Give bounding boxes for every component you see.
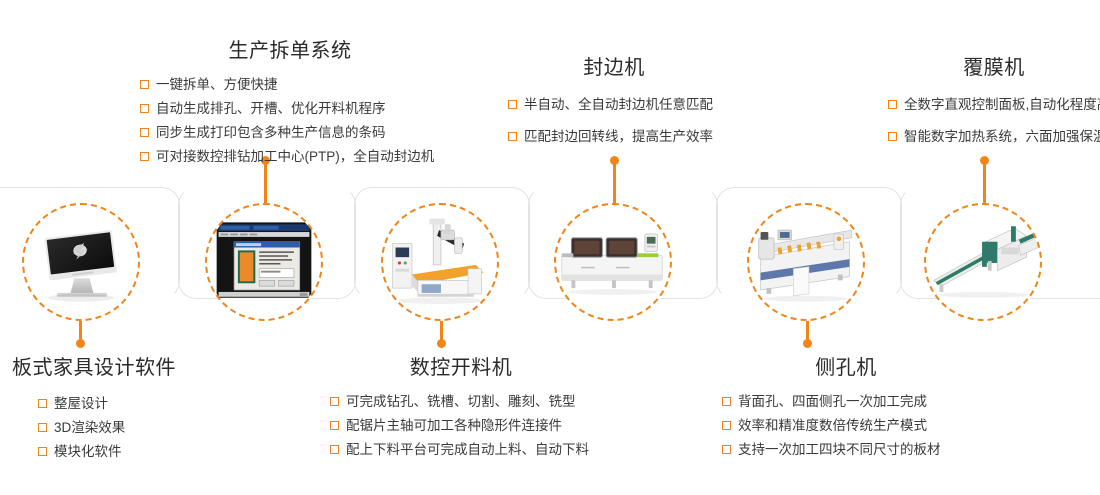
- section-title: 侧孔机: [722, 355, 970, 381]
- bullet-label: 整屋设计: [54, 392, 108, 416]
- bullet-square-icon: [722, 421, 731, 430]
- bullet-square-icon: [38, 447, 47, 456]
- connector-dot-6: [980, 156, 989, 165]
- workflow-infographic: 生产拆单系统 一键拆单、方便快捷 自动生成排孔、开槽、优化开料机程序 同步生成打…: [0, 0, 1100, 495]
- bullet-label: 半自动、全自动封边机任意匹配: [524, 93, 713, 117]
- section-panel-furniture-design-software: 板式家具设计软件 整屋设计 3D渲染效果 模块化软件: [12, 355, 242, 464]
- bullet-item: 一键拆单、方便快捷: [140, 73, 440, 97]
- section-bullet-list: 整屋设计 3D渲染效果 模块化软件: [12, 392, 242, 464]
- bullet-square-icon: [140, 128, 149, 137]
- bullet-item: 半自动、全自动封边机任意匹配: [508, 93, 720, 117]
- node-edge-bander[interactable]: [554, 203, 672, 321]
- section-bullet-list: 可完成钻孔、铣槽、切割、雕刻、铣型 配锯片主轴可加工各种隐形件连接件 配上下料平…: [330, 390, 592, 462]
- bullet-label: 一键拆单、方便快捷: [156, 73, 278, 97]
- section-title: 生产拆单系统: [140, 38, 440, 64]
- bullet-label: 匹配封边回转线，提高生产效率: [524, 125, 713, 149]
- bullet-label: 全数字直观控制面板,自动化程度高: [904, 93, 1100, 117]
- cnc-router-machine-icon: [383, 205, 497, 319]
- section-title: 数控开料机: [330, 355, 592, 381]
- bullet-label: 同步生成打印包含多种生产信息的条码: [156, 121, 386, 145]
- bullet-label: 3D渲染效果: [54, 416, 125, 440]
- connector-dot-4: [610, 156, 619, 165]
- node-laminator[interactable]: [924, 203, 1042, 321]
- node-cnc-router[interactable]: [381, 203, 499, 321]
- bullet-item: 配上下料平台可完成自动上料、自动下料: [330, 438, 592, 462]
- section-title: 板式家具设计软件: [12, 355, 242, 381]
- bullet-item: 3D渲染效果: [38, 416, 242, 440]
- bullet-label: 背面孔、四面侧孔一次加工完成: [738, 390, 927, 414]
- side-hole-drill-machine-icon: [749, 205, 863, 319]
- bullet-square-icon: [38, 399, 47, 408]
- node-side-driller[interactable]: [747, 203, 865, 321]
- laminating-machine-icon: [926, 205, 1040, 319]
- bullet-square-icon: [38, 423, 47, 432]
- node-split-order[interactable]: [205, 203, 323, 321]
- bullet-item: 自动生成排孔、开槽、优化开料机程序: [140, 97, 440, 121]
- bullet-square-icon: [888, 132, 897, 141]
- section-title: 封边机: [508, 55, 720, 81]
- bullet-item: 可对接数控排钻加工中心(PTP)，全自动封边机: [140, 145, 440, 169]
- bullet-label: 自动生成排孔、开槽、优化开料机程序: [156, 97, 386, 121]
- bullet-item: 可完成钻孔、铣槽、切割、雕刻、铣型: [330, 390, 592, 414]
- bullet-label: 配锯片主轴可加工各种隐形件连接件: [346, 414, 562, 438]
- bullet-item: 效率和精准度数倍传统生产模式: [722, 414, 970, 438]
- bullet-square-icon: [508, 132, 517, 141]
- bullet-label: 配上下料平台可完成自动上料、自动下料: [346, 438, 589, 462]
- section-bullet-list: 一键拆单、方便快捷 自动生成排孔、开槽、优化开料机程序 同步生成打印包含多种生产…: [140, 73, 440, 169]
- bullet-label: 效率和精准度数倍传统生产模式: [738, 414, 927, 438]
- bullet-square-icon: [330, 445, 339, 454]
- bullet-item: 支持一次加工四块不同尺寸的板材: [722, 438, 970, 462]
- bullet-label: 智能数字加热系统，六面加强保温: [904, 125, 1100, 149]
- bullet-item: 智能数字加热系统，六面加强保温: [888, 125, 1100, 149]
- section-bullet-list: 背面孔、四面侧孔一次加工完成 效率和精准度数倍传统生产模式 支持一次加工四块不同…: [722, 390, 970, 462]
- section-bullet-list: 全数字直观控制面板,自动化程度高 智能数字加热系统，六面加强保温: [888, 93, 1100, 149]
- bullet-item: 整屋设计: [38, 392, 242, 416]
- cad-software-screen-icon: [207, 205, 321, 319]
- bullet-square-icon: [330, 397, 339, 406]
- bullet-square-icon: [508, 100, 517, 109]
- section-cnc-cutting-machine: 数控开料机 可完成钻孔、铣槽、切割、雕刻、铣型 配锯片主轴可加工各种隐形件连接件…: [330, 355, 592, 462]
- connector-dot-5: [803, 339, 812, 348]
- section-bullet-list: 半自动、全自动封边机任意匹配 匹配封边回转线，提高生产效率: [508, 93, 720, 149]
- edge-banding-machine-icon: [556, 205, 670, 319]
- connector-dot-1: [76, 339, 85, 348]
- bullet-square-icon: [722, 397, 731, 406]
- section-title: 覆膜机: [888, 55, 1100, 81]
- section-laminating-machine: 覆膜机 全数字直观控制面板,自动化程度高 智能数字加热系统，六面加强保温: [888, 55, 1100, 149]
- bullet-square-icon: [140, 152, 149, 161]
- bullet-square-icon: [330, 421, 339, 430]
- bullet-item: 背面孔、四面侧孔一次加工完成: [722, 390, 970, 414]
- connector-line-6: [983, 160, 986, 204]
- bullet-label: 可完成钻孔、铣槽、切割、雕刻、铣型: [346, 390, 576, 414]
- bullet-label: 可对接数控排钻加工中心(PTP)，全自动封边机: [156, 145, 434, 169]
- bullet-square-icon: [888, 100, 897, 109]
- bullet-square-icon: [140, 104, 149, 113]
- bullet-item: 匹配封边回转线，提高生产效率: [508, 125, 720, 149]
- bullet-label: 模块化软件: [54, 440, 122, 464]
- bullet-label: 支持一次加工四块不同尺寸的板材: [738, 438, 941, 462]
- bullet-square-icon: [722, 445, 731, 454]
- section-side-hole-drilling-machine: 侧孔机 背面孔、四面侧孔一次加工完成 效率和精准度数倍传统生产模式 支持一次加工…: [722, 355, 970, 462]
- bullet-square-icon: [140, 80, 149, 89]
- section-production-split-order-system: 生产拆单系统 一键拆单、方便快捷 自动生成排孔、开槽、优化开料机程序 同步生成打…: [140, 38, 440, 169]
- bullet-item: 同步生成打印包含多种生产信息的条码: [140, 121, 440, 145]
- bullet-item: 配锯片主轴可加工各种隐形件连接件: [330, 414, 592, 438]
- bullet-item: 全数字直观控制面板,自动化程度高: [888, 93, 1100, 117]
- node-design-software[interactable]: [22, 203, 140, 321]
- bullet-item: 模块化软件: [38, 440, 242, 464]
- imac-monitor-icon: [24, 205, 138, 319]
- connector-dot-3: [437, 339, 446, 348]
- section-edge-banding-machine: 封边机 半自动、全自动封边机任意匹配 匹配封边回转线，提高生产效率: [508, 55, 720, 149]
- connector-line-4: [613, 160, 616, 204]
